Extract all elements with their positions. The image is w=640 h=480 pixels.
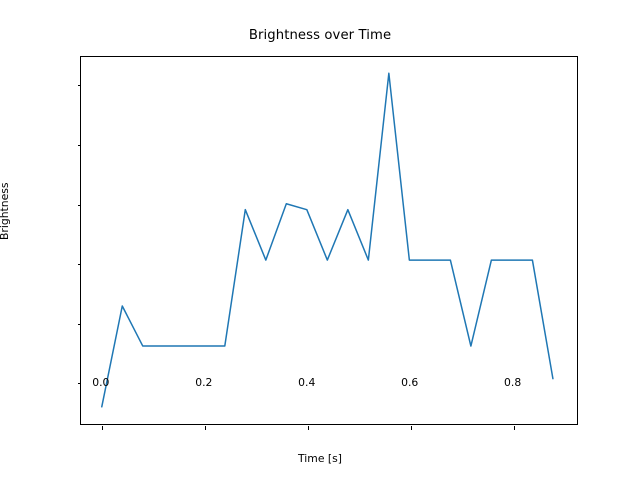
x-tick-mark [308,426,309,430]
x-tick-label: 0.8 [504,376,521,389]
brightness-line-series [102,73,553,407]
page-title: Brightness over Time [0,28,640,43]
x-tick-mark [102,426,103,430]
x-tick-mark [411,426,412,430]
x-axis-label: Time [s] [0,452,640,465]
plot-area [80,56,578,425]
line-series-svg [81,57,577,424]
matplotlib-figure: Brightness over Time Brightness Time [s]… [0,0,640,480]
y-tick-mark [78,205,82,206]
y-tick-mark [78,324,82,325]
y-tick-mark [78,383,82,384]
y-axis-label: Brightness [0,182,11,240]
y-tick-mark [78,145,82,146]
x-tick-mark [514,426,515,430]
x-tick-label: 0.2 [195,376,212,389]
x-tick-label: 0.4 [298,376,315,389]
x-tick-label: 0.0 [92,376,109,389]
x-tick-mark [205,426,206,430]
x-tick-label: 0.6 [401,376,418,389]
y-tick-mark [78,264,82,265]
y-tick-mark [78,85,82,86]
